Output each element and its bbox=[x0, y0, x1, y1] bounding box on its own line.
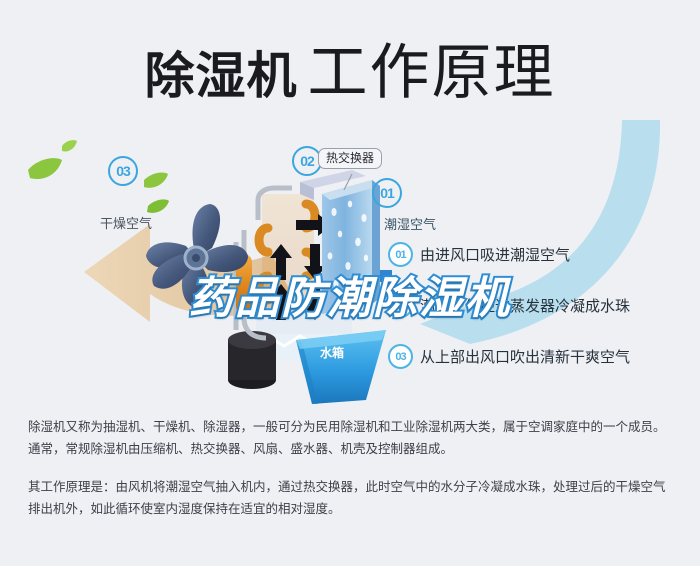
diagram-badge-03: 03 bbox=[108, 156, 138, 186]
page-root: 除湿机工作原理 bbox=[0, 0, 700, 566]
list-item: 03 从上部出风口吹出清新干爽空气 bbox=[388, 344, 688, 369]
humid-air-label: 潮湿空气 bbox=[384, 214, 436, 233]
water-tank bbox=[296, 330, 386, 404]
water-tank-label: 水箱 bbox=[320, 344, 344, 361]
page-title-part2: 工作原理 bbox=[308, 39, 556, 106]
heat-exchanger-callout: 热交换器 bbox=[318, 148, 382, 169]
page-title: 除湿机工作原理 bbox=[0, 24, 700, 111]
page-title-part1: 除湿机 bbox=[145, 48, 298, 104]
leaf-icon-group bbox=[28, 140, 169, 213]
watermark-text: 药品防潮除湿机 bbox=[0, 262, 700, 326]
body-paragraph-2: 其工作原理是：由风机将潮湿空气抽入机内，通过热交换器，此时空气中的水分子冷凝成水… bbox=[28, 476, 676, 520]
body-copy: 除湿机又称为抽湿机、干燥机、除湿器，一般可分为民用除湿机和工业除湿机两大类，属于… bbox=[28, 416, 676, 536]
diagram-badge-01: 01 bbox=[372, 178, 402, 208]
step-text: 从上部出风口吹出清新干爽空气 bbox=[420, 346, 630, 367]
compressor bbox=[228, 331, 276, 389]
dry-air-label: 干燥空气 bbox=[100, 213, 152, 232]
body-paragraph-1: 除湿机又称为抽湿机、干燥机、除湿器，一般可分为民用除湿机和工业除湿机两大类，属于… bbox=[28, 416, 676, 460]
step-number: 03 bbox=[388, 344, 413, 369]
